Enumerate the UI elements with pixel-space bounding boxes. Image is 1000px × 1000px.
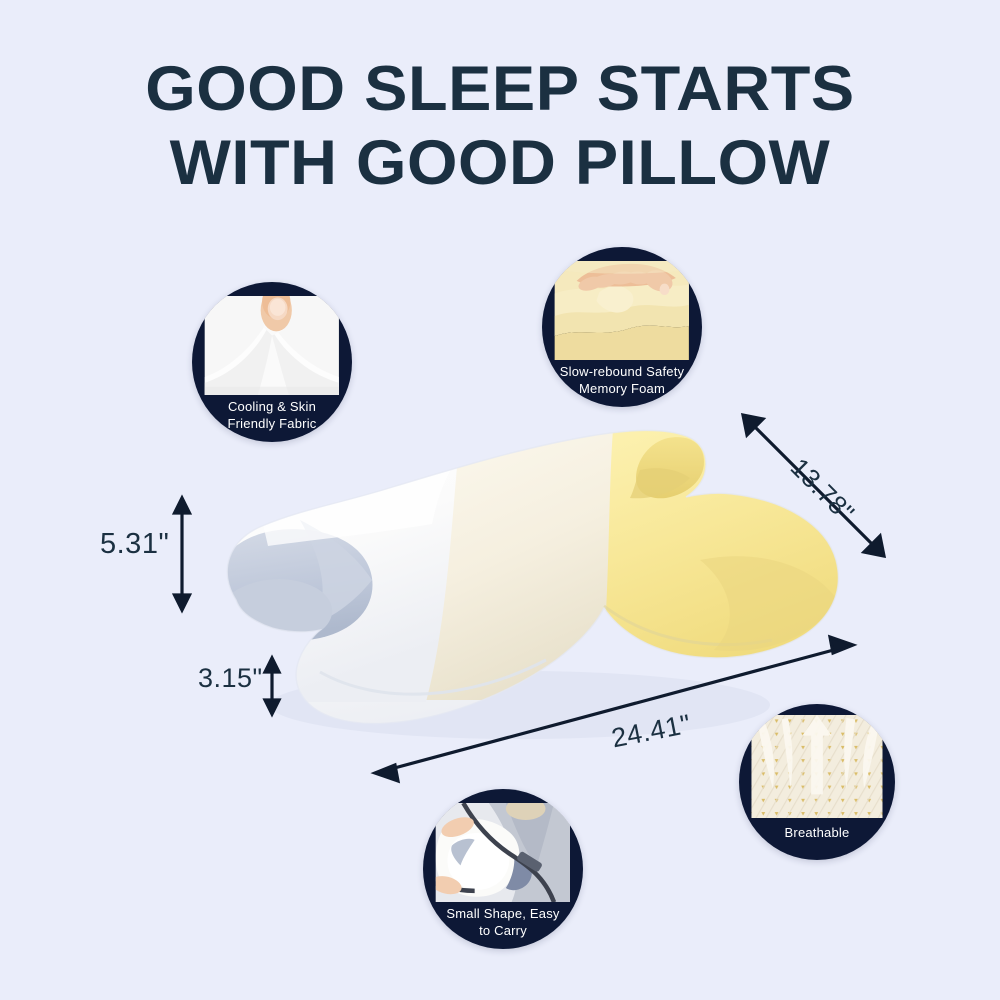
feature-caption-breathable: Breathable	[739, 818, 895, 860]
feature-badge-breathable[interactable]: Breathable	[739, 704, 895, 860]
arrow-front-height	[265, 658, 279, 714]
fabric-pinch-icon	[205, 296, 339, 395]
feature-caption-line-2: Memory Foam	[542, 380, 702, 397]
dimension-label-width: 24.41"	[609, 709, 694, 755]
feature-caption-line-1: Slow-rebound Safety	[542, 363, 702, 380]
feature-caption-line-2: to Carry	[423, 922, 583, 939]
feature-caption-line-1: Cooling & Skin	[192, 398, 352, 415]
hand-pressing-foam-icon	[555, 261, 689, 360]
dimension-label-height: 5.31"	[100, 528, 169, 561]
feature-caption-cooling: Cooling & Skin Friendly Fabric	[192, 394, 352, 442]
arrow-height	[175, 498, 190, 610]
feature-caption-portable: Small Shape, Easy to Carry	[423, 901, 583, 949]
dimension-label-depth: 13.78"	[784, 452, 861, 529]
pillow-in-bag-icon	[436, 803, 570, 902]
mesh-airflow-icon	[751, 715, 882, 818]
page-title-line-2: WITH GOOD PILLOW	[0, 126, 1000, 200]
feature-badge-memory-foam[interactable]: Slow-rebound Safety Memory Foam	[542, 247, 702, 407]
feature-caption-memory-foam: Slow-rebound Safety Memory Foam	[542, 359, 702, 407]
dimension-label-front-height: 3.15"	[198, 663, 263, 694]
page-title: GOOD SLEEP STARTS WITH GOOD PILLOW	[0, 52, 1000, 200]
feature-badge-cooling[interactable]: Cooling & Skin Friendly Fabric	[192, 282, 352, 442]
page-title-line-1: GOOD SLEEP STARTS	[0, 52, 1000, 126]
feature-badge-portable[interactable]: Small Shape, Easy to Carry	[423, 789, 583, 949]
infographic-canvas: GOOD SLEEP STARTS WITH GOOD PILLOW	[0, 0, 1000, 1000]
feature-caption-line-1: Breathable	[739, 824, 895, 841]
feature-caption-line-2: Friendly Fabric	[192, 415, 352, 432]
feature-caption-line-1: Small Shape, Easy	[423, 905, 583, 922]
pillow-body	[180, 400, 900, 724]
